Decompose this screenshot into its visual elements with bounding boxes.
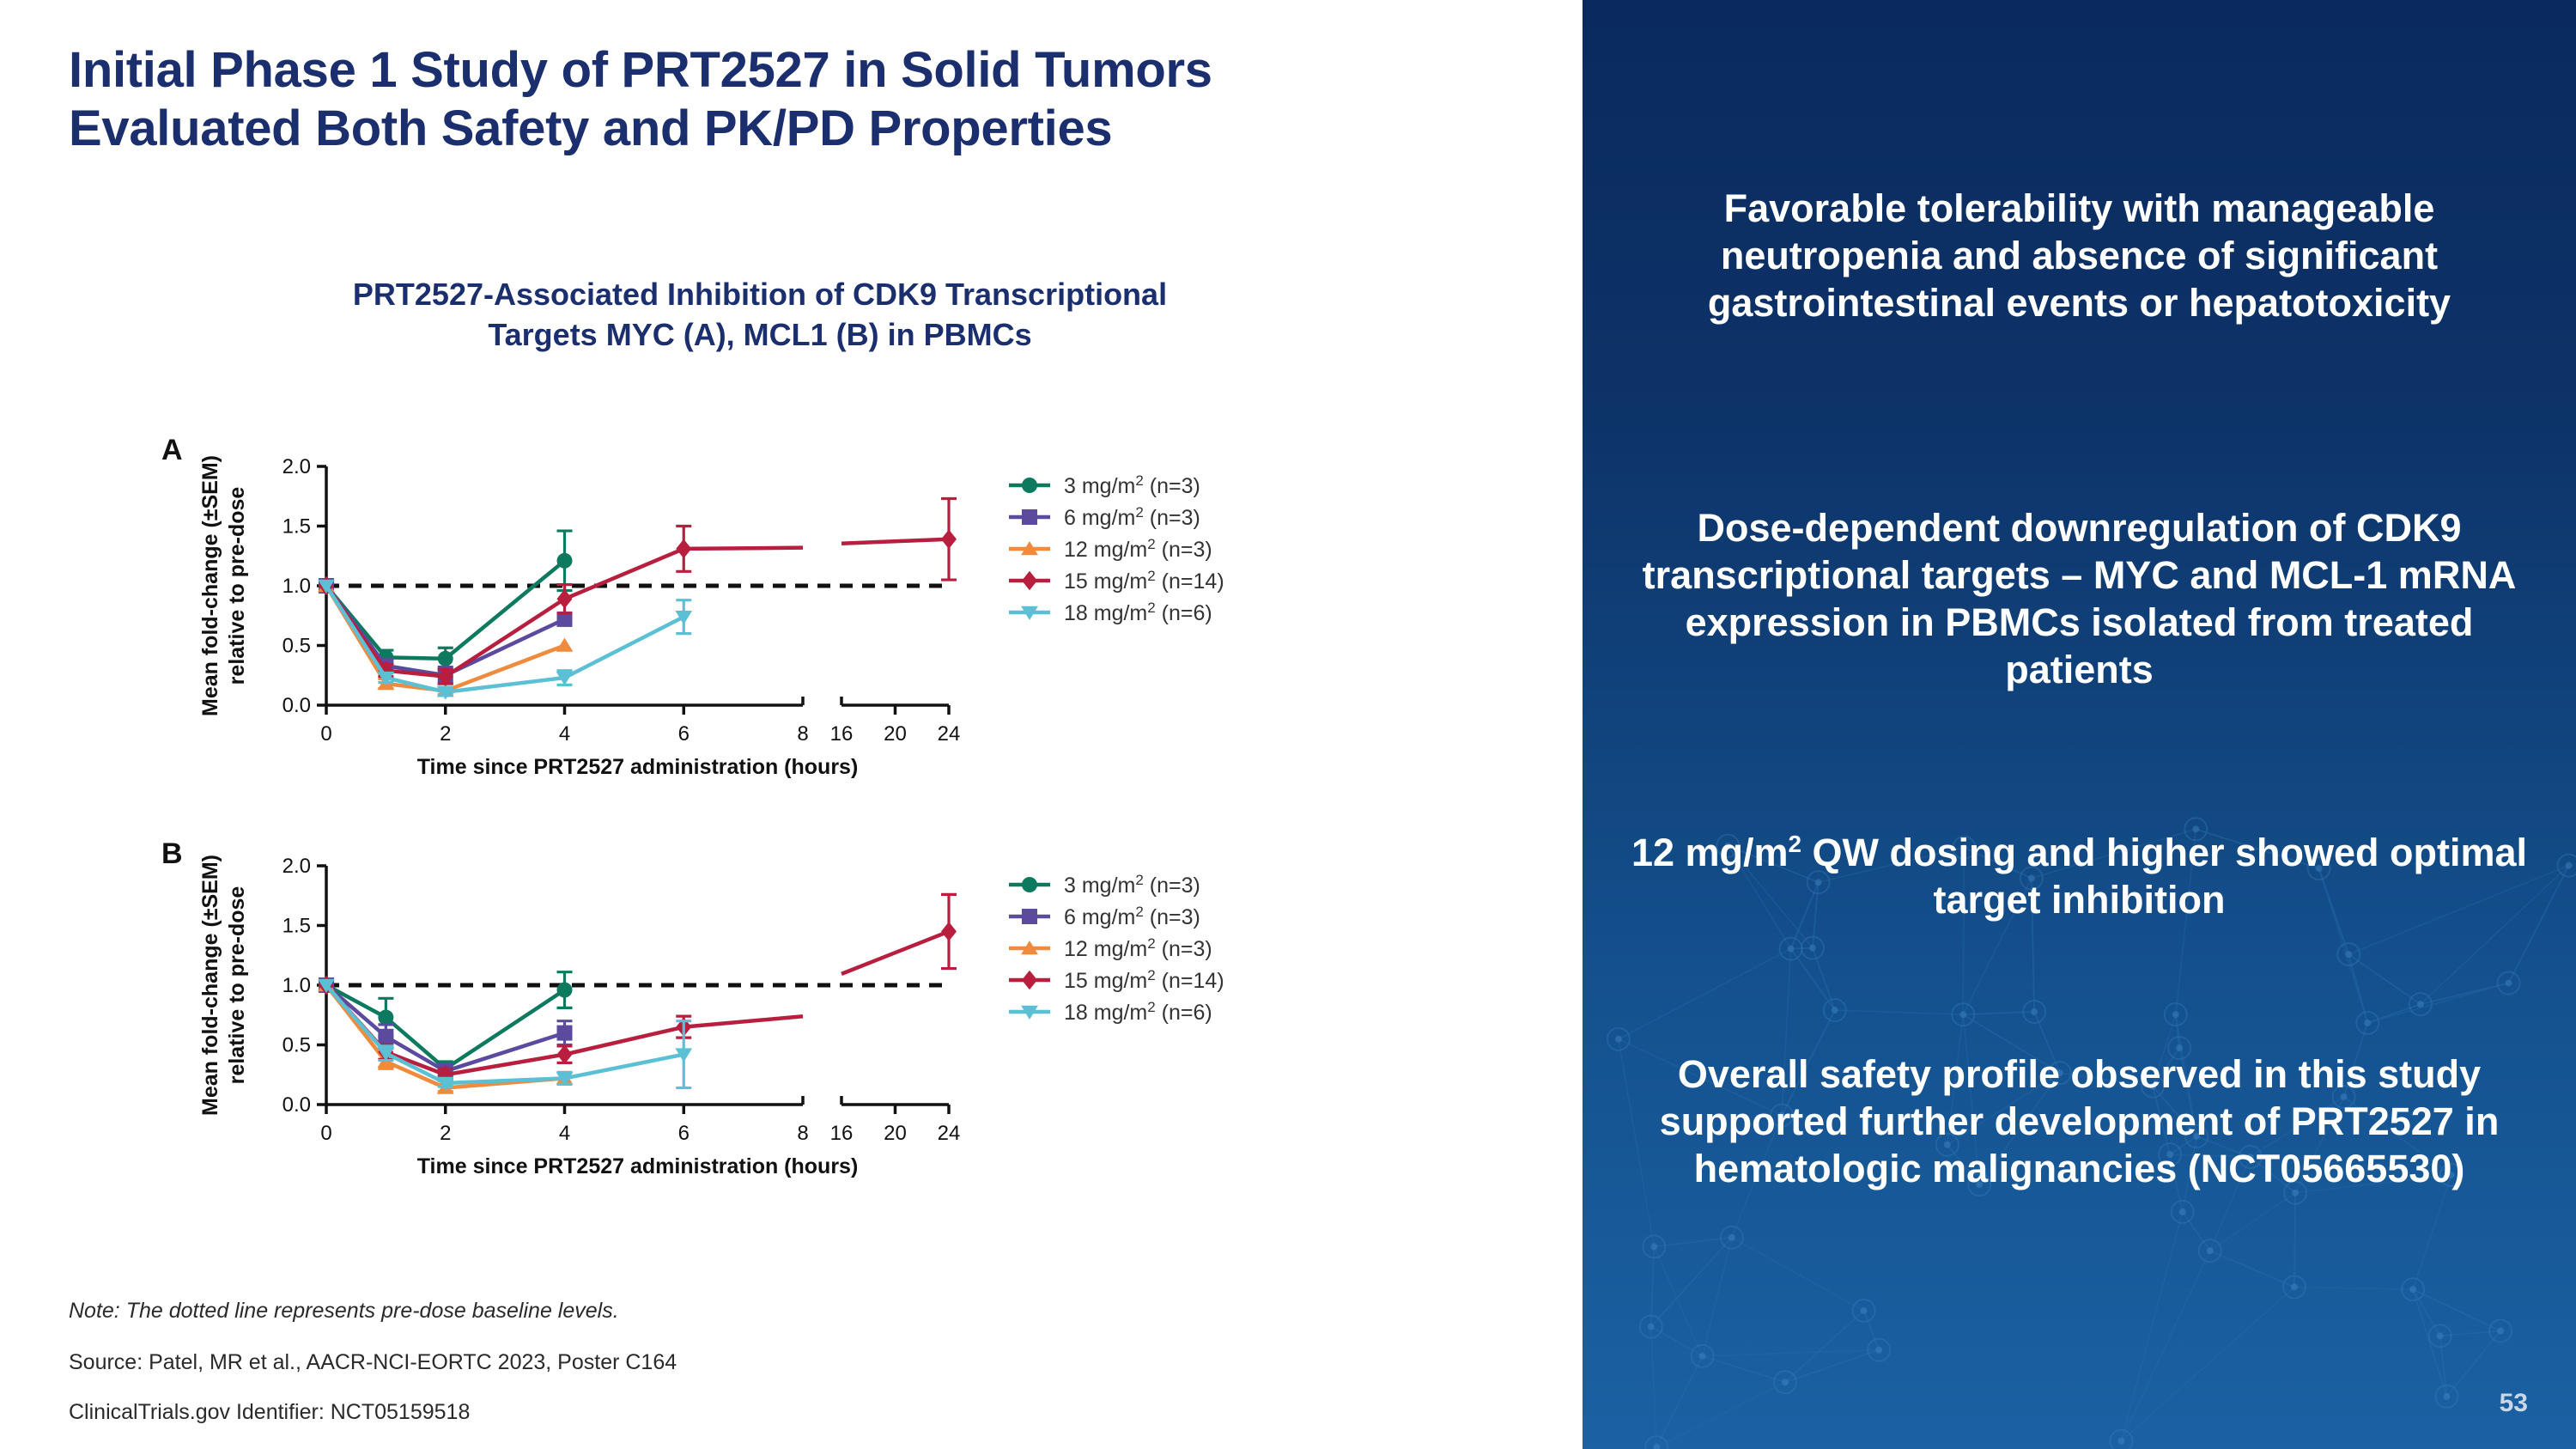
- svg-text:20: 20: [884, 722, 907, 746]
- svg-text:0: 0: [320, 1122, 331, 1145]
- svg-text:4: 4: [559, 1122, 570, 1145]
- svg-text:6: 6: [678, 722, 690, 746]
- svg-text:6 mg/m2 (n=3): 6 mg/m2 (n=3): [1064, 504, 1200, 530]
- svg-text:0.5: 0.5: [283, 635, 311, 658]
- footnote-source: Source: Patel, MR et al., AACR-NCI-EORTC…: [69, 1350, 677, 1375]
- svg-text:2.0: 2.0: [283, 455, 311, 478]
- svg-text:1.0: 1.0: [283, 974, 311, 997]
- svg-text:6 mg/m2 (n=3): 6 mg/m2 (n=3): [1064, 904, 1200, 929]
- svg-text:20: 20: [884, 1122, 907, 1145]
- panel-a-letter: A: [161, 434, 183, 467]
- slide-number: 53: [2500, 1389, 2528, 1418]
- svg-text:0: 0: [320, 722, 331, 746]
- page-title: Initial Phase 1 Study of PRT2527 in Soli…: [69, 41, 1528, 158]
- svg-text:4: 4: [559, 722, 570, 746]
- figure-title: PRT2527-Associated Inhibition of CDK9 Tr…: [155, 275, 1365, 356]
- svg-text:18 mg/m2 (n=6): 18 mg/m2 (n=6): [1064, 999, 1212, 1025]
- svg-text:1.5: 1.5: [283, 515, 311, 539]
- svg-text:12 mg/m2 (n=3): 12 mg/m2 (n=3): [1064, 536, 1212, 562]
- chart-panel-b: 0.00.51.01.52.002468162024Mean fold-chan…: [185, 850, 1387, 1228]
- figure-title-line-2: Targets MYC (A), MCL1 (B) in PBMCs: [155, 315, 1365, 356]
- svg-text:Time since PRT2527 administrat: Time since PRT2527 administration (hours…: [417, 1154, 859, 1178]
- footnote-nct: ClinicalTrials.gov Identifier: NCT051595…: [69, 1400, 470, 1425]
- panel-b-letter: B: [161, 837, 183, 871]
- svg-text:18 mg/m2 (n=6): 18 mg/m2 (n=6): [1064, 600, 1212, 625]
- svg-text:relative to pre-dose: relative to pre-dose: [225, 487, 249, 685]
- svg-text:6: 6: [678, 1122, 690, 1145]
- svg-text:15 mg/m2 (n=14): 15 mg/m2 (n=14): [1064, 967, 1224, 993]
- highlight-dosing: 12 mg/m2 QW dosing and higher showed opt…: [1617, 830, 2542, 924]
- svg-text:1.5: 1.5: [283, 915, 311, 938]
- svg-text:1.0: 1.0: [283, 575, 311, 598]
- svg-text:16: 16: [830, 722, 854, 746]
- svg-text:15 mg/m2 (n=14): 15 mg/m2 (n=14): [1064, 568, 1224, 594]
- svg-text:12 mg/m2 (n=3): 12 mg/m2 (n=3): [1064, 935, 1212, 961]
- key-takeaways-pane: Favorable tolerability with manageable n…: [1583, 0, 2576, 1449]
- svg-text:2: 2: [440, 1122, 451, 1145]
- svg-text:0.5: 0.5: [283, 1034, 311, 1057]
- svg-text:16: 16: [830, 1122, 854, 1145]
- svg-text:24: 24: [938, 722, 961, 746]
- svg-text:2: 2: [440, 722, 451, 746]
- figure-title-line-1: PRT2527-Associated Inhibition of CDK9 Tr…: [155, 275, 1365, 315]
- highlight-safety-profile: Overall safety profile observed in this …: [1617, 1051, 2542, 1193]
- svg-text:Mean fold-change (±SEM): Mean fold-change (±SEM): [198, 455, 222, 716]
- svg-text:24: 24: [938, 1122, 961, 1145]
- svg-text:3 mg/m2 (n=3): 3 mg/m2 (n=3): [1064, 472, 1200, 498]
- svg-text:Time since PRT2527 administrat: Time since PRT2527 administration (hours…: [417, 755, 859, 779]
- svg-text:Mean fold-change (±SEM): Mean fold-change (±SEM): [198, 855, 222, 1116]
- chart-panel-a: 0.00.51.01.52.002468162024Mean fold-chan…: [185, 451, 1387, 829]
- page-title-line-2: Evaluated Both Safety and PK/PD Properti…: [69, 100, 1528, 158]
- highlight-downregulation: Dose-dependent downregulation of CDK9 tr…: [1617, 505, 2542, 694]
- svg-text:relative to pre-dose: relative to pre-dose: [225, 886, 249, 1085]
- footnote-note: Note: The dotted line represents pre-dos…: [69, 1299, 619, 1324]
- slide-content-pane: Initial Phase 1 Study of PRT2527 in Soli…: [0, 0, 1583, 1449]
- svg-text:0.0: 0.0: [283, 694, 311, 717]
- svg-text:2.0: 2.0: [283, 855, 311, 878]
- svg-text:8: 8: [797, 722, 808, 746]
- svg-text:0.0: 0.0: [283, 1093, 311, 1117]
- svg-text:8: 8: [797, 1122, 808, 1145]
- svg-text:3 mg/m2 (n=3): 3 mg/m2 (n=3): [1064, 872, 1200, 898]
- highlight-tolerability: Favorable tolerability with manageable n…: [1617, 186, 2542, 327]
- page-title-line-1: Initial Phase 1 Study of PRT2527 in Soli…: [69, 41, 1528, 100]
